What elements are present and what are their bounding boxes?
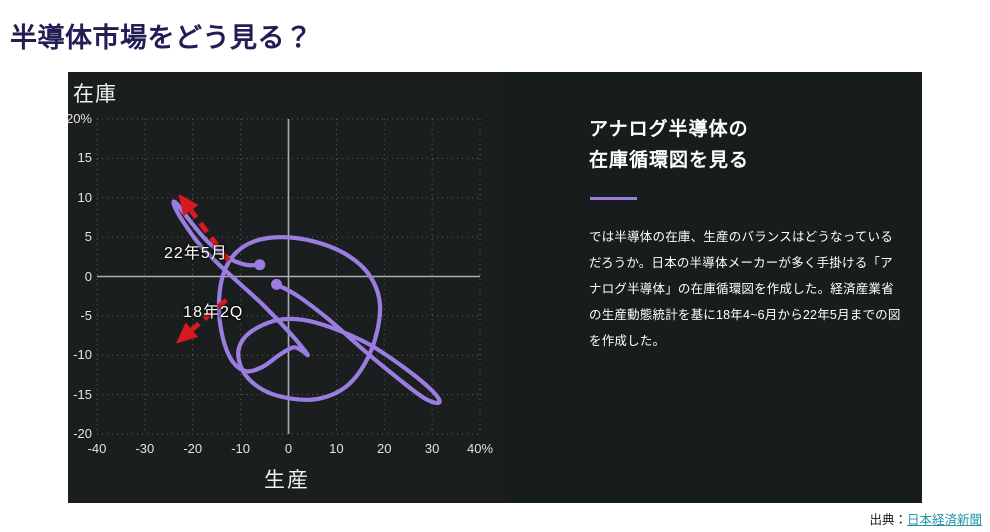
chart-zero-axes: [97, 119, 480, 434]
x-axis-tick: -20: [168, 441, 218, 456]
x-axis-tick: -30: [120, 441, 170, 456]
y-axis-tick: -20: [73, 426, 92, 441]
panel-heading: アナログ半導体の 在庫循環図を見る: [589, 114, 749, 176]
y-axis-tick: 5: [85, 229, 92, 244]
x-axis-tick: 40%: [455, 441, 505, 456]
x-axis-tick: -40: [72, 441, 122, 456]
y-axis-tick: -5: [80, 308, 92, 323]
y-axis-tick: -15: [73, 387, 92, 402]
y-axis-tick: 0: [85, 269, 92, 284]
source-link[interactable]: 日本経済新聞: [907, 513, 982, 527]
figure-panel: 在庫 生産 20%151050-5-10-15-20 -40-30-20-100…: [68, 72, 922, 503]
chart-plot-svg: [68, 72, 505, 503]
y-axis-tick: -10: [73, 347, 92, 362]
panel-heading-line2: 在庫循環図を見る: [589, 145, 749, 176]
source-attribution: 出典：日本経済新聞: [869, 509, 982, 528]
text-panel: アナログ半導体の 在庫循環図を見る では半導体の在庫、生産のバランスはどうなって…: [505, 72, 922, 503]
y-axis-tick: 20%: [68, 111, 92, 126]
panel-heading-line1: アナログ半導体の: [589, 114, 749, 145]
x-axis-tick: 30: [407, 441, 457, 456]
inventory-cycle-chart: 在庫 生産 20%151050-5-10-15-20 -40-30-20-100…: [68, 72, 505, 503]
x-axis-tick: -10: [216, 441, 266, 456]
panel-body-text: では半導体の在庫、生産のバランスはどうなっているだろうか。日本の半導体メーカーが…: [589, 224, 901, 354]
chart-markers: [254, 259, 282, 290]
x-axis-tick: 20: [359, 441, 409, 456]
point-label: 22年5月: [164, 239, 228, 263]
x-axis-tick: 0: [264, 441, 314, 456]
page-title: 半導体市場をどう見る？: [10, 16, 313, 55]
point-label: 18年2Q: [183, 298, 243, 322]
y-axis-tick: 15: [78, 150, 92, 165]
y-axis-tick: 10: [78, 190, 92, 205]
heading-accent-rule: [590, 197, 637, 200]
source-prefix: 出典：: [869, 513, 907, 527]
x-axis-tick: 10: [311, 441, 361, 456]
